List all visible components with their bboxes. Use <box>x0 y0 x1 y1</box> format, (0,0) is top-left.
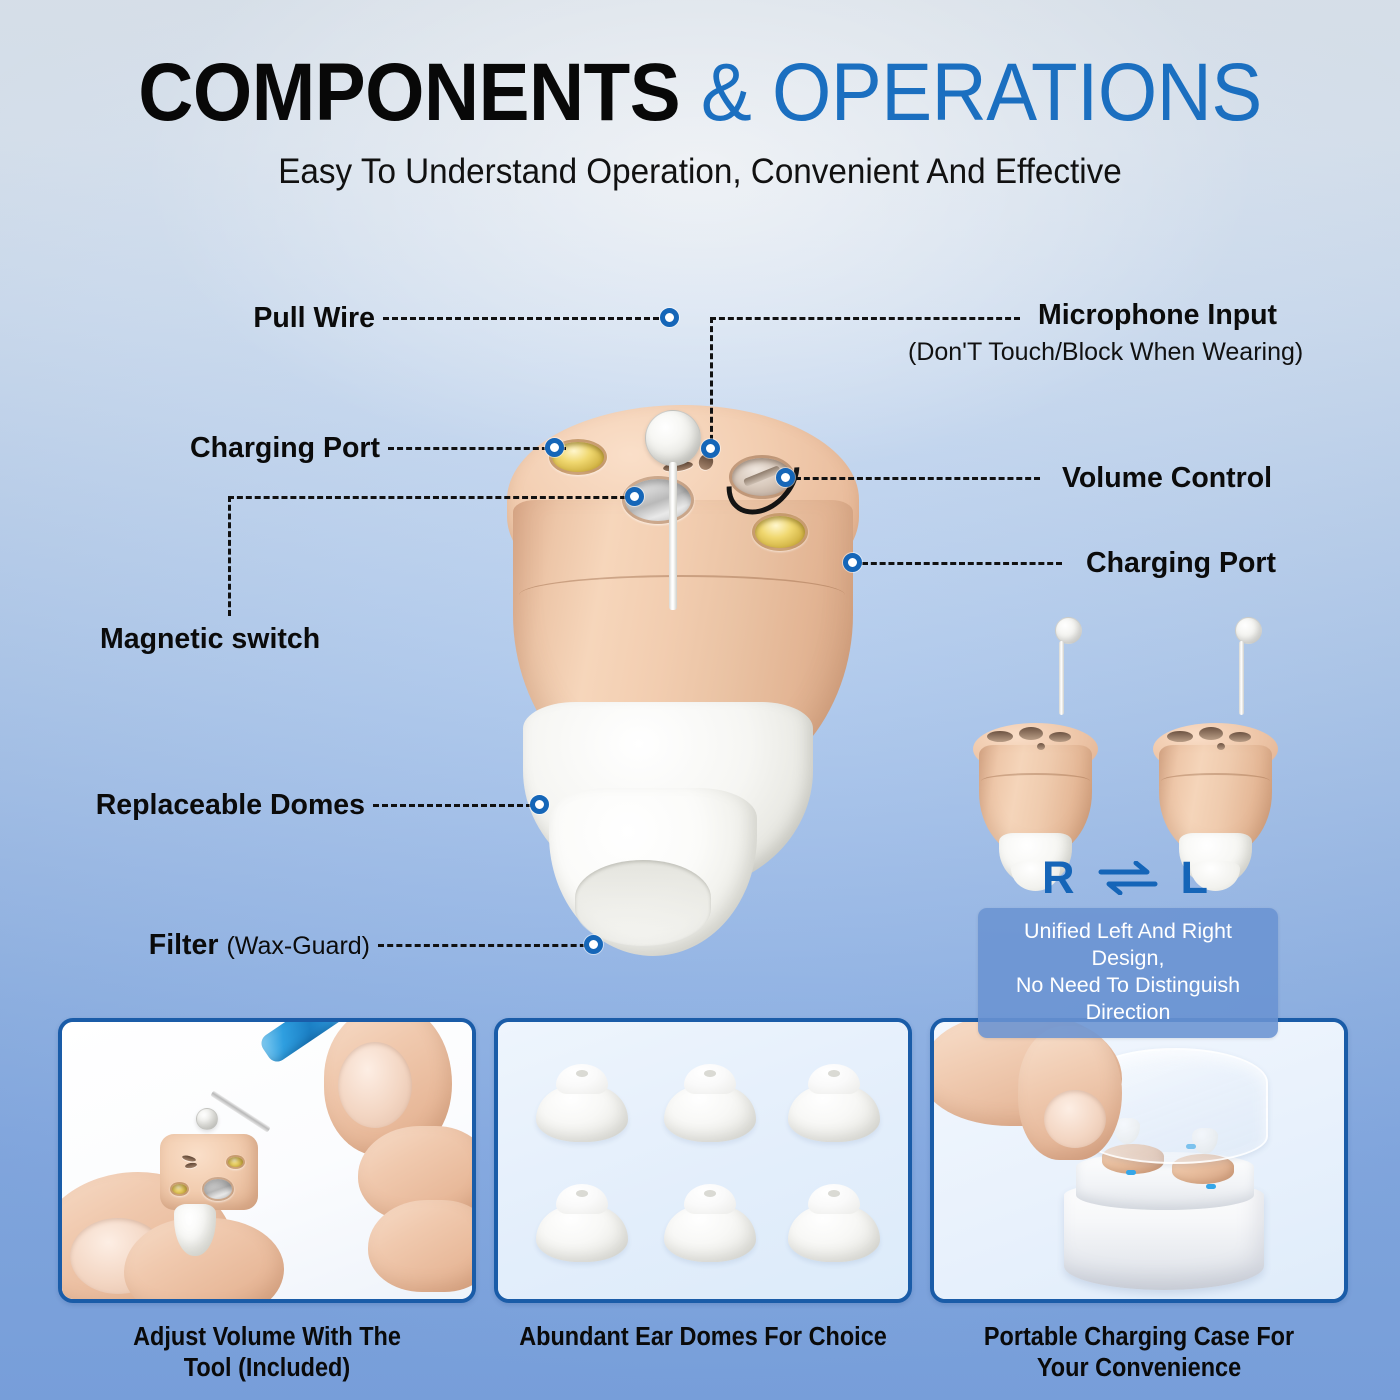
leader-line-microphone-horizontal <box>710 317 1020 320</box>
ear-dome-2-nub <box>704 1070 716 1077</box>
ear-dome-1-skirt <box>536 1086 628 1142</box>
ear-dome-5-skirt <box>664 1206 756 1262</box>
ear-dome-3-skirt <box>788 1086 880 1142</box>
callout-note-microphone-input: (Don'T Touch/Block When Wearing) <box>908 338 1303 367</box>
panel1-gold-port-b <box>226 1155 245 1169</box>
pull-wire-ball <box>645 410 701 466</box>
swap-arrows-icon <box>1097 861 1159 895</box>
panel-caption-3-line1: Portable Charging Case For <box>947 1322 1332 1353</box>
marker-charging-port-left <box>545 438 564 457</box>
right-unit-top-holes <box>987 727 1085 749</box>
callout-label-filter: Filter(Wax-Guard) <box>0 929 370 962</box>
panel-caption-1-line1: Adjust Volume With The <box>75 1322 460 1353</box>
ear-dome-3 <box>788 1064 880 1142</box>
marker-microphone-input <box>701 439 720 458</box>
infographic-canvas: COMPONENTS & OPERATIONS Easy To Understa… <box>0 0 1400 1400</box>
callout-text-filter: Filter <box>149 929 219 961</box>
left-unit-top-holes <box>1167 727 1265 749</box>
left-unit-pull-stem <box>1239 641 1244 715</box>
leader-line-magnetic-vertical <box>228 496 231 616</box>
panel1-magnetic-switch <box>202 1177 234 1201</box>
page-title: COMPONENTS & OPERATIONS <box>49 52 1351 134</box>
right-unit-pull-stem <box>1059 641 1064 715</box>
callout-label-replaceable-domes: Replaceable Domes <box>0 789 365 822</box>
panel-caption-charging-case: Portable Charging Case For Your Convenie… <box>947 1322 1332 1384</box>
right-letter: R <box>1042 855 1075 900</box>
left-letter: L <box>1181 855 1209 900</box>
callout-text-magnetic-switch: Magnetic switch <box>100 623 320 655</box>
device-seam <box>519 575 845 615</box>
ear-dome-6-skirt <box>788 1206 880 1262</box>
ear-dome-4-skirt <box>536 1206 628 1262</box>
leader-line-pull-wire <box>383 317 668 320</box>
ear-dome-3-top <box>808 1064 860 1094</box>
callout-text-volume-control: Volume Control <box>1062 462 1272 494</box>
panel-ear-domes[interactable] <box>494 1018 912 1303</box>
callout-label-magnetic-switch: Magnetic switch <box>100 623 320 656</box>
left-right-caption-box: Unified Left And Right Design, No Need T… <box>978 908 1278 1038</box>
feature-panels <box>58 1018 1348 1303</box>
panel-caption-ear-domes: Abundant Ear Domes For Choice <box>511 1322 896 1353</box>
ear-dome-1 <box>536 1064 628 1142</box>
title-part-black: COMPONENTS <box>138 47 680 138</box>
panel-caption-1-line2: Tool (Included) <box>75 1353 460 1384</box>
callout-label-volume-control: Volume Control <box>1062 462 1272 495</box>
left-unit-pull-ball <box>1235 617 1262 644</box>
callout-text-microphone-input: Microphone Input <box>1038 299 1277 331</box>
leader-line-charging-port-right <box>862 562 1062 565</box>
callout-text-pull-wire: Pull Wire <box>253 302 375 334</box>
hearing-aid-device-illustration <box>497 390 867 990</box>
left-right-indicator-row: R L <box>955 855 1295 900</box>
pull-wire-stem <box>669 462 677 610</box>
ear-dome-3-nub <box>828 1070 840 1077</box>
left-right-caption-line2: No Need To Distinguish Direction <box>986 972 1270 1026</box>
filter-wax-guard <box>575 860 711 946</box>
marker-magnetic-switch <box>625 487 644 506</box>
callout-text-charging-port-right: Charging Port <box>1086 547 1276 579</box>
panel1-pull-wire-ball <box>196 1108 218 1130</box>
marker-volume-control <box>776 468 795 487</box>
panel1-grip-finger-3 <box>368 1200 476 1292</box>
ear-dome-6-nub <box>828 1190 840 1197</box>
callout-text-replaceable-domes: Replaceable Domes <box>96 789 365 821</box>
header: COMPONENTS & OPERATIONS Easy To Understa… <box>0 52 1400 192</box>
marker-filter <box>584 935 603 954</box>
right-unit-pull-ball <box>1055 617 1082 644</box>
ear-dome-5 <box>664 1184 756 1262</box>
panel3-finger-nail <box>1044 1090 1106 1148</box>
callout-label-charging-port-right: Charging Port <box>1086 547 1276 580</box>
callout-label-charging-port-left: Charging Port <box>0 432 380 465</box>
charging-indicator-led-1 <box>1126 1170 1136 1175</box>
marker-replaceable-domes <box>530 795 549 814</box>
panel-adjust-volume[interactable] <box>58 1018 476 1303</box>
right-unit-seam <box>981 773 1090 789</box>
panel-charging-case[interactable] <box>930 1018 1348 1303</box>
panel-caption-2-line1: Abundant Ear Domes For Choice <box>511 1322 896 1353</box>
marker-pull-wire <box>660 308 679 327</box>
panel-caption-adjust-volume: Adjust Volume With The Tool (Included) <box>75 1322 460 1384</box>
hearing-aid-right-unit <box>973 665 1098 880</box>
panel1-grip-nail <box>338 1042 412 1128</box>
callout-label-pull-wire: Pull Wire <box>0 302 375 335</box>
marker-charging-port-right <box>843 553 862 572</box>
ear-dome-6-top <box>808 1184 860 1214</box>
title-part-blue: & OPERATIONS <box>701 47 1262 138</box>
ear-dome-4-nub <box>576 1190 588 1197</box>
ear-dome-5-nub <box>704 1190 716 1197</box>
hearing-aid-left-unit <box>1153 665 1278 880</box>
ear-dome-2-top <box>684 1064 736 1094</box>
left-unit-seam <box>1161 773 1270 789</box>
charging-port-right-hole <box>752 513 808 551</box>
panel1-gold-port-a <box>170 1182 189 1196</box>
ear-dome-4 <box>536 1184 628 1262</box>
ear-dome-6 <box>788 1184 880 1262</box>
callout-text-filter-secondary: (Wax-Guard) <box>226 932 370 960</box>
ear-dome-1-top <box>556 1064 608 1094</box>
ear-dome-5-top <box>684 1184 736 1214</box>
charging-indicator-led-3 <box>1206 1184 1216 1189</box>
callout-text-charging-port-left: Charging Port <box>190 432 380 464</box>
panel-caption-3-line2: Your Convenience <box>947 1353 1332 1384</box>
page-subtitle: Easy To Understand Operation, Convenient… <box>35 152 1365 192</box>
ear-dome-2 <box>664 1064 756 1142</box>
panel1-mic-slots <box>182 1154 206 1170</box>
callout-label-microphone-input: Microphone Input <box>1038 299 1277 332</box>
ear-dome-1-nub <box>576 1070 588 1077</box>
left-right-caption-line1: Unified Left And Right Design, <box>986 918 1270 972</box>
ear-dome-4-top <box>556 1184 608 1214</box>
ear-dome-2-skirt <box>664 1086 756 1142</box>
